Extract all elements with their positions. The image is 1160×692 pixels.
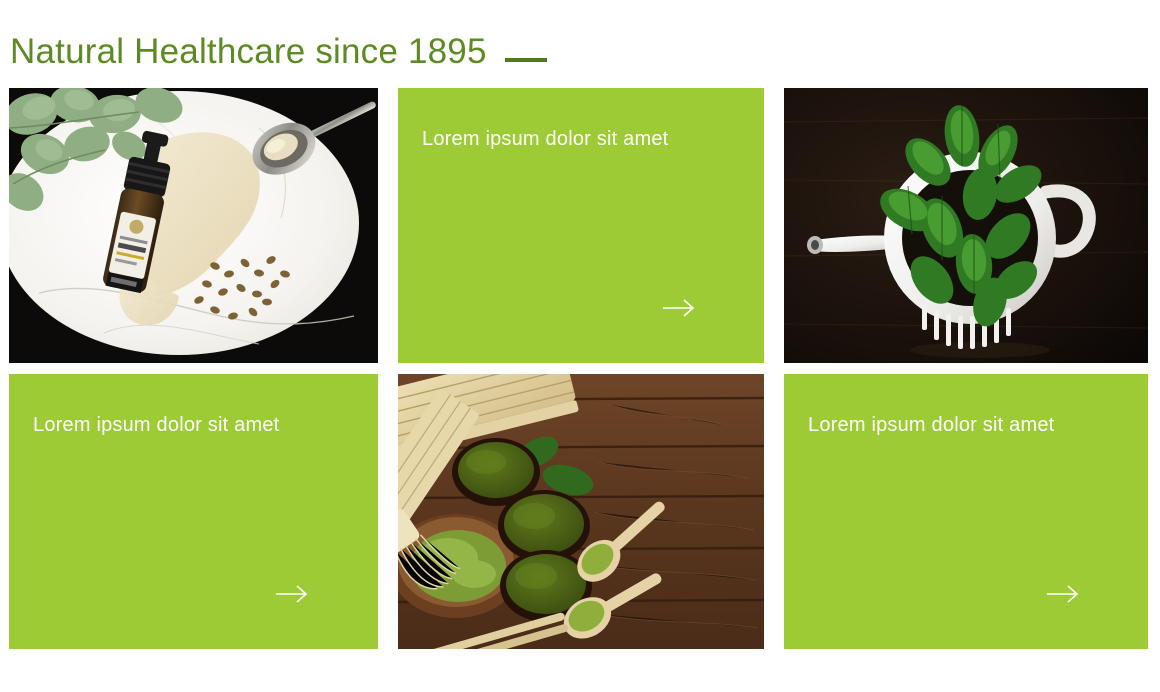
- page-title: Natural Healthcare since 1895: [10, 31, 487, 73]
- tile-promo-3[interactable]: Lorem ipsum dolor sit amet: [784, 374, 1148, 649]
- photo-mint-teapot-icon: [784, 88, 1148, 363]
- tile-photo-matcha-set[interactable]: [398, 374, 764, 649]
- title-rule: [505, 58, 547, 62]
- tile-photo-mint-teapot[interactable]: [784, 88, 1148, 363]
- tile-promo-2[interactable]: Lorem ipsum dolor sit amet: [9, 374, 378, 649]
- photo-oil-bottle-icon: [9, 88, 378, 363]
- tile-promo-1[interactable]: Lorem ipsum dolor sit amet: [398, 88, 764, 363]
- arrow-right-icon[interactable]: [275, 583, 309, 605]
- photo-matcha-set-icon: [398, 374, 764, 649]
- arrow-right-icon[interactable]: [662, 297, 696, 319]
- tile-promo-3-text: Lorem ipsum dolor sit amet: [808, 412, 1124, 438]
- tile-grid: Lorem ipsum dolor sit amet: [9, 88, 1149, 649]
- tile-promo-1-text: Lorem ipsum dolor sit amet: [422, 126, 740, 152]
- arrow-right-icon[interactable]: [1046, 583, 1080, 605]
- page-root: Natural Healthcare since 1895: [0, 0, 1160, 692]
- tile-promo-2-text: Lorem ipsum dolor sit amet: [33, 412, 354, 438]
- page-header: Natural Healthcare since 1895: [10, 31, 547, 73]
- tile-photo-oil-bottle[interactable]: [9, 88, 378, 363]
